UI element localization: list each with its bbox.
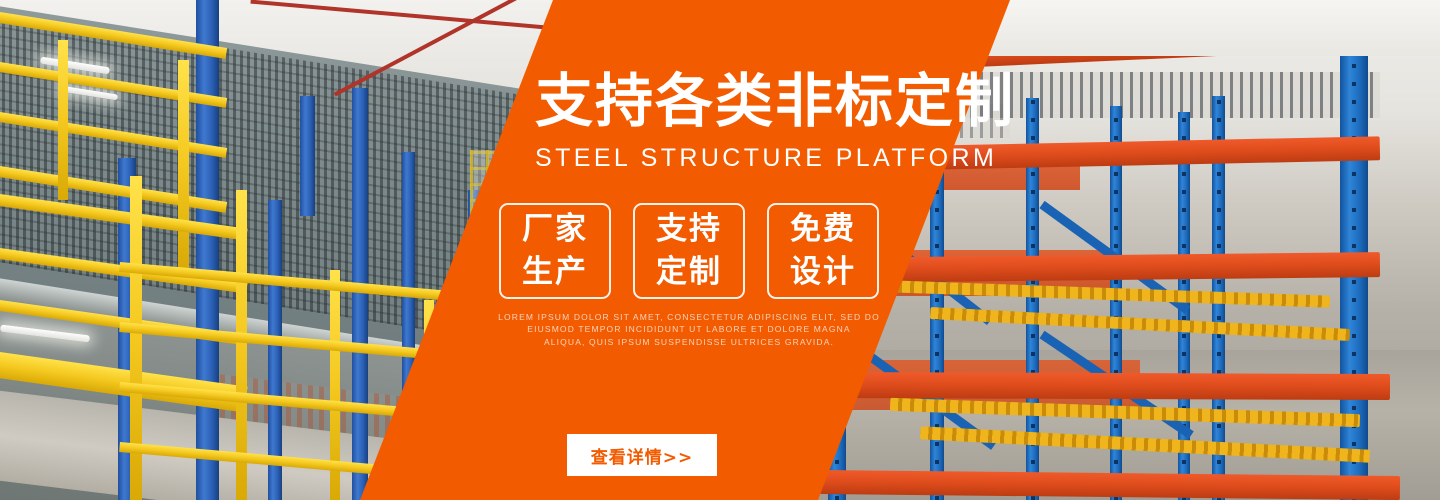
promo-banner: 支持各类非标定制 STEEL STRUCTURE PLATFORM 厂家 生产 … [0, 0, 1440, 500]
description-line-3: ALIQUA, QUIS IPSUM SUSPENDISSE ULTRICES … [439, 336, 939, 348]
feature-tag-customization: 支持 定制 [633, 203, 745, 299]
description-text: LOREM IPSUM DOLOR SIT AMET, CONSECTETUR … [439, 311, 939, 348]
feature-tag-manufacturer: 厂家 生产 [499, 203, 611, 299]
feature-tag-line1: 支持 [656, 208, 722, 251]
feature-tag-line1: 厂家 [522, 208, 588, 251]
feature-tag-line2: 设计 [790, 251, 856, 294]
feature-tag-line2: 生产 [522, 251, 588, 294]
feature-tag-line1: 免费 [790, 208, 856, 251]
banner-content: 支持各类非标定制 STEEL STRUCTURE PLATFORM 厂家 生产 … [0, 0, 1440, 500]
subtitle: STEEL STRUCTURE PLATFORM [535, 146, 997, 171]
feature-tag-free-design: 免费 设计 [767, 203, 879, 299]
view-details-button[interactable]: 查看详情>> [567, 434, 717, 476]
description-line-2: EIUSMOD TEMPOR INCIDIDUNT UT LABORE ET D… [439, 323, 939, 335]
feature-tag-line2: 定制 [656, 251, 722, 294]
feature-tag-row: 厂家 生产 支持 定制 免费 设计 [499, 203, 879, 299]
page-title: 支持各类非标定制 [535, 72, 1015, 130]
description-line-1: LOREM IPSUM DOLOR SIT AMET, CONSECTETUR … [439, 311, 939, 323]
